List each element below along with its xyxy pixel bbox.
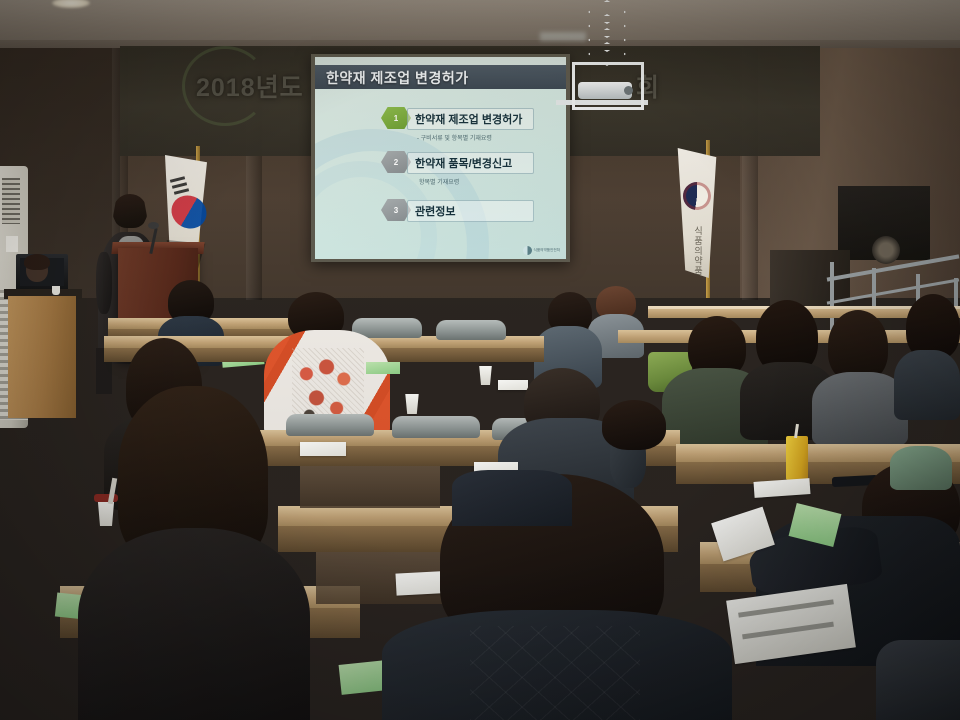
handout-paper <box>754 478 811 498</box>
slide-body: 1 한약재 제조업 변경허가 - 구비서류 및 항목별 기재요령 2 한약재 품… <box>315 89 566 259</box>
projector-lift-mount <box>588 0 622 62</box>
lecture-hall-photograph: 2018년도 시 회 1 한약재 제조업 변경허가 - 구비서류 및 항목별 기… <box>0 0 960 720</box>
attendee-top <box>894 350 960 420</box>
thermos-lid <box>94 494 118 502</box>
slide-item-1-sub: - 구비서류 및 항목별 기재요령 <box>417 133 492 142</box>
projection-screen: 1 한약재 제조업 변경허가 - 구비서류 및 항목별 기재요령 2 한약재 품… <box>315 57 566 259</box>
attendee-shoulder <box>452 470 572 526</box>
operator-hair <box>24 254 50 270</box>
slide-item-2-label: 한약재 품목/변경신고 <box>407 152 534 174</box>
green-notebook <box>366 362 400 374</box>
chair-back <box>392 416 480 438</box>
av-control-desk <box>8 296 76 418</box>
ceiling-light-secondary <box>540 32 586 41</box>
yellow-juice-carton <box>786 436 808 480</box>
projector-lens-icon <box>624 86 633 95</box>
handout-paper <box>300 442 346 456</box>
slide-item-3-label: 관련정보 <box>407 200 534 222</box>
slide-footer-logo: 식품의약품안전처 <box>523 246 560 255</box>
quilt-pattern <box>470 626 640 720</box>
presenter-arm-left <box>96 252 112 314</box>
handout-paper <box>498 380 528 390</box>
paper-cup <box>478 366 493 385</box>
government-emblem-icon <box>523 246 532 255</box>
presenter-hair <box>113 194 147 228</box>
paper-cup-av-desk <box>52 286 60 295</box>
attendee-coat <box>78 528 310 720</box>
government-flag-text: 식품의약품 <box>692 226 705 276</box>
attendee-shoulder <box>876 640 960 720</box>
projection-screen-frame: 1 한약재 제조업 변경허가 - 구비서류 및 항목별 기재요령 2 한약재 품… <box>311 54 570 262</box>
slide-item-2-sub: 항목별 기재요령 <box>419 177 459 186</box>
ac-control-panel[interactable] <box>6 236 18 252</box>
chair-back <box>436 320 506 340</box>
green-knit-cap <box>890 446 952 490</box>
ac-vent <box>2 178 20 224</box>
attendee-hair <box>602 400 666 450</box>
microphone-icon[interactable] <box>148 222 159 229</box>
paper-cup <box>404 394 420 414</box>
slide-logo-text: 식품의약품안전처 <box>534 248 560 252</box>
aisle-step <box>300 466 440 508</box>
slide-title-bar: 한약재 제조업 변경허가 <box>315 65 566 89</box>
slide-title-text: 한약재 제조업 변경허가 <box>326 68 469 88</box>
slide-item-1-label: 한약재 제조업 변경허가 <box>407 108 534 130</box>
chair-back <box>286 414 374 436</box>
